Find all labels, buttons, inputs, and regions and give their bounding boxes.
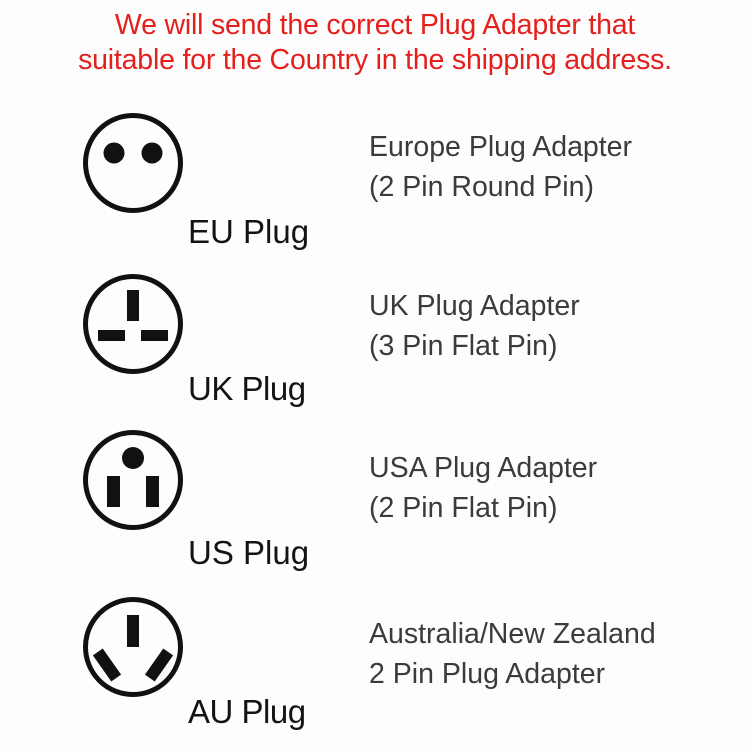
header-line-1: We will send the correct Plug Adapter th… <box>0 8 750 43</box>
page-title: We will send the correct Plug Adapter th… <box>0 8 750 78</box>
au-plug-caption: AU Plug <box>188 693 306 731</box>
au-socket-icon <box>81 595 185 699</box>
au-description: Australia/New Zealand 2 Pin Plug Adapter <box>369 614 656 694</box>
us-socket-icon <box>81 428 185 532</box>
au-description-line-1: Australia/New Zealand <box>369 614 656 654</box>
uk-description-line-1: UK Plug Adapter <box>369 286 580 326</box>
au-description-line-2: 2 Pin Plug Adapter <box>369 654 656 694</box>
uk-description-line-2: (3 Pin Flat Pin) <box>369 326 580 366</box>
eu-plug-caption: EU Plug <box>188 213 309 251</box>
eu-description-line-1: Europe Plug Adapter <box>369 127 632 167</box>
eu-socket-icon <box>81 111 185 215</box>
us-description: USA Plug Adapter (2 Pin Flat Pin) <box>369 448 597 528</box>
us-plug-caption: US Plug <box>188 534 309 572</box>
uk-description: UK Plug Adapter (3 Pin Flat Pin) <box>369 286 580 366</box>
uk-plug-caption: UK Plug <box>188 370 306 408</box>
uk-socket-icon <box>81 272 185 376</box>
us-description-line-2: (2 Pin Flat Pin) <box>369 488 597 528</box>
plug-adapter-infographic: We will send the correct Plug Adapter th… <box>0 0 750 750</box>
us-description-line-1: USA Plug Adapter <box>369 448 597 488</box>
header-line-2: suitable for the Country in the shipping… <box>0 43 750 78</box>
eu-description-line-2: (2 Pin Round Pin) <box>369 167 632 207</box>
eu-description: Europe Plug Adapter (2 Pin Round Pin) <box>369 127 632 207</box>
